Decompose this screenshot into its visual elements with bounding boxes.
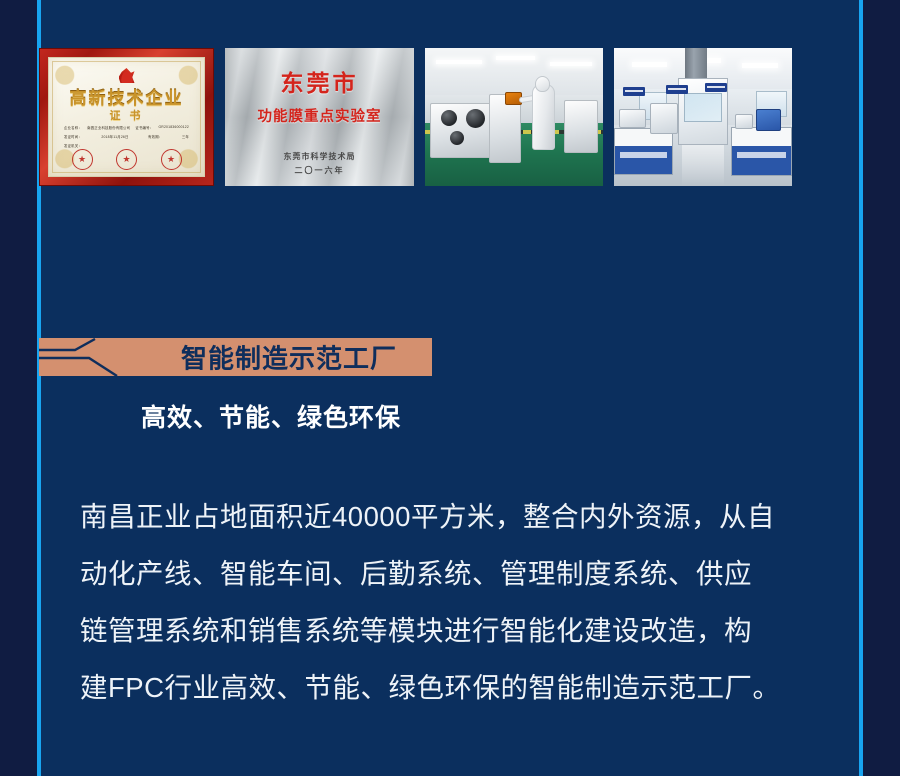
certificate-field-value: GR201836000122	[158, 125, 189, 130]
roller-icon	[441, 110, 457, 126]
official-seal-icon: ★	[161, 149, 182, 170]
certificate-frame: 高新技术企业 证 书 企业名称： 南昌正业科技股份有限公司 证书编号： GR20…	[39, 48, 214, 186]
section-banner: 智能制造示范工厂	[39, 338, 432, 376]
certificate-subtitle: 证 书	[48, 107, 205, 123]
room-sign-icon	[666, 85, 688, 94]
certificate-field-label: 发证机关：	[64, 143, 82, 148]
certificate-field-label: 企业名称：	[64, 125, 82, 130]
fume-hood-sash	[684, 93, 722, 121]
certificate-field-row: 发证时间： 2018年11月26日 有效期： 三年	[64, 134, 189, 139]
certificate-field-label: 证书编号：	[135, 125, 153, 130]
analytical-instrument	[619, 109, 646, 128]
bench-drawer	[737, 152, 786, 158]
gallery-strip: 高新技术企业 证 书 企业名称： 南昌正业科技股份有限公司 证书编号： GR20…	[39, 48, 787, 186]
exhaust-duct	[685, 48, 706, 81]
roller-icon	[450, 131, 464, 145]
testing-instrument	[756, 109, 781, 131]
section-title: 智能制造示范工厂	[181, 339, 397, 376]
drying-oven	[650, 103, 678, 133]
official-seal-icon: ★	[116, 149, 137, 170]
roller-icon	[466, 109, 485, 128]
certificate-fields: 企业名称： 南昌正业科技股份有限公司 证书编号： GR201836000122 …	[64, 125, 189, 152]
gallery-item-certificate[interactable]: 高新技术企业 证 书 企业名称： 南昌正业科技股份有限公司 证书编号： GR20…	[39, 48, 214, 186]
page-root: 高新技术企业 证 书 企业名称： 南昌正业科技股份有限公司 证书编号： GR20…	[0, 0, 900, 776]
gallery-item-plaque[interactable]: 东莞市 功能膜重点实验室 东莞市科学技术局 二〇一六年	[225, 48, 414, 186]
plaque-issuer: 东莞市科学技术局	[225, 151, 414, 162]
certificate-field-value: 2018年11月26日	[101, 134, 128, 139]
gallery-item-cleanroom[interactable]	[425, 48, 603, 186]
ceiling-lamp-icon	[632, 62, 668, 67]
ceiling-lamp-icon	[742, 63, 778, 68]
certificate-seals: ★ ★ ★	[48, 149, 205, 170]
ceiling-lamp-icon	[550, 62, 593, 66]
section-subtitle: 高效、节能、绿色环保	[141, 398, 401, 434]
plaque-lab-name: 功能膜重点实验室	[225, 105, 414, 126]
paragraph-line: 链管理系统和销售系统等模块进行智能化建设改造，构	[80, 602, 840, 659]
certificate-field-value: 三年	[182, 134, 189, 139]
certificate-paper: 高新技术企业 证 书 企业名称： 南昌正业科技股份有限公司 证书编号： GR20…	[48, 57, 205, 177]
laboratory-scene	[614, 48, 792, 186]
right-accent-line	[859, 0, 863, 776]
room-sign-icon	[705, 83, 727, 92]
certificate-field-row: 企业名称： 南昌正业科技股份有限公司 证书编号： GR201836000122	[64, 125, 189, 130]
certificate-field-row: 发证机关：	[64, 143, 189, 148]
lab-bench-right	[731, 127, 792, 177]
ceiling-lamp-icon	[496, 56, 535, 60]
certificate-field-label: 发证时间：	[64, 134, 82, 139]
auxiliary-machine	[564, 100, 598, 152]
lab-bench-left	[614, 128, 673, 175]
bench-drawer	[620, 152, 668, 157]
room-sign-icon	[623, 87, 645, 96]
certificate-field-value: 南昌正业科技股份有限公司	[87, 125, 130, 130]
paragraph-line: 动化产线、智能车间、后勤系统、管理制度系统、供应	[80, 545, 840, 602]
circuit-trace-decoration-icon	[39, 338, 199, 376]
gallery-item-laboratory[interactable]	[614, 48, 792, 186]
cleanroom-ceiling	[425, 48, 603, 95]
operator-hood	[535, 76, 550, 92]
paragraph-line: 建FPC行业高效、节能、绿色环保的智能制造示范工厂。	[80, 659, 840, 716]
cleanroom-scene	[425, 48, 603, 186]
bench-instrument	[735, 114, 753, 129]
certificate-title: 高新技术企业	[48, 84, 205, 109]
plaque-city-name: 东莞市	[225, 64, 414, 98]
paragraph-line: 南昌正业占地面积近40000平方米，整合内外资源，从自	[80, 488, 840, 545]
plaque-year: 二〇一六年	[225, 165, 414, 176]
operator-coverall	[532, 84, 555, 150]
certificate-field-label: 有效期：	[148, 134, 162, 139]
ceiling-lamp-icon	[436, 60, 482, 64]
section-paragraph: 南昌正业占地面积近40000平方米，整合内外资源，从自 动化产线、智能车间、后勤…	[80, 488, 840, 716]
official-seal-icon: ★	[72, 149, 93, 170]
right-rail	[863, 0, 900, 776]
left-rail	[0, 0, 37, 776]
